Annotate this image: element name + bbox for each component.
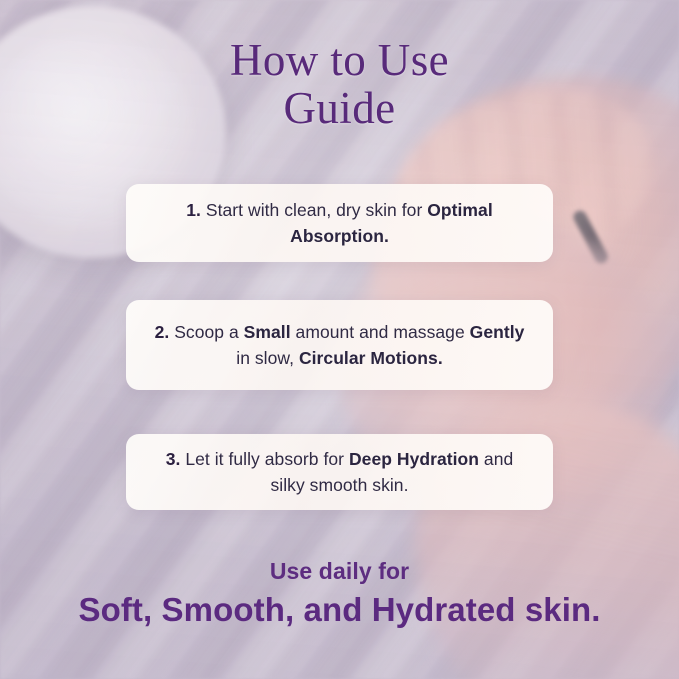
step-segment-2-2: amount and massage [291,322,470,342]
step-number-3: 3. [166,449,181,469]
step-segment-2-1: Small [244,322,291,342]
title-line-1: How to Use [0,36,679,84]
steps-list: 1. Start with clean, dry skin for Optima… [126,184,553,510]
step-segment-1-0: Start with clean, dry skin for [201,200,427,220]
how-to-use-guide-poster: How to Use Guide 1. Start with clean, dr… [0,0,679,679]
step-text-2: 2. Scoop a Small amount and massage Gent… [148,319,531,371]
footer-large-line: Soft, Smooth, and Hydrated skin. [0,589,679,631]
step-card-3: 3. Let it fully absorb for Deep Hydratio… [126,434,553,510]
step-text-3: 3. Let it fully absorb for Deep Hydratio… [148,446,531,498]
footer-callout: Use daily for Soft, Smooth, and Hydrated… [0,556,679,631]
step-card-2: 2. Scoop a Small amount and massage Gent… [126,300,553,390]
step-segment-3-0: Let it fully absorb for [180,449,349,469]
step-segment-2-0: Scoop a [169,322,243,342]
step-text-1: 1. Start with clean, dry skin for Optima… [148,197,531,249]
page-title: How to Use Guide [0,36,679,132]
footer-small-line: Use daily for [0,556,679,586]
poster-content: How to Use Guide 1. Start with clean, dr… [0,0,679,679]
step-segment-2-4: in slow, [236,348,299,368]
step-number-1: 1. [186,200,201,220]
step-card-1: 1. Start with clean, dry skin for Optima… [126,184,553,262]
step-segment-2-3: Gently [470,322,525,342]
title-line-2: Guide [0,84,679,132]
step-number-2: 2. [155,322,170,342]
step-segment-2-5: Circular Motions. [299,348,443,368]
step-segment-3-1: Deep Hydration [349,449,479,469]
